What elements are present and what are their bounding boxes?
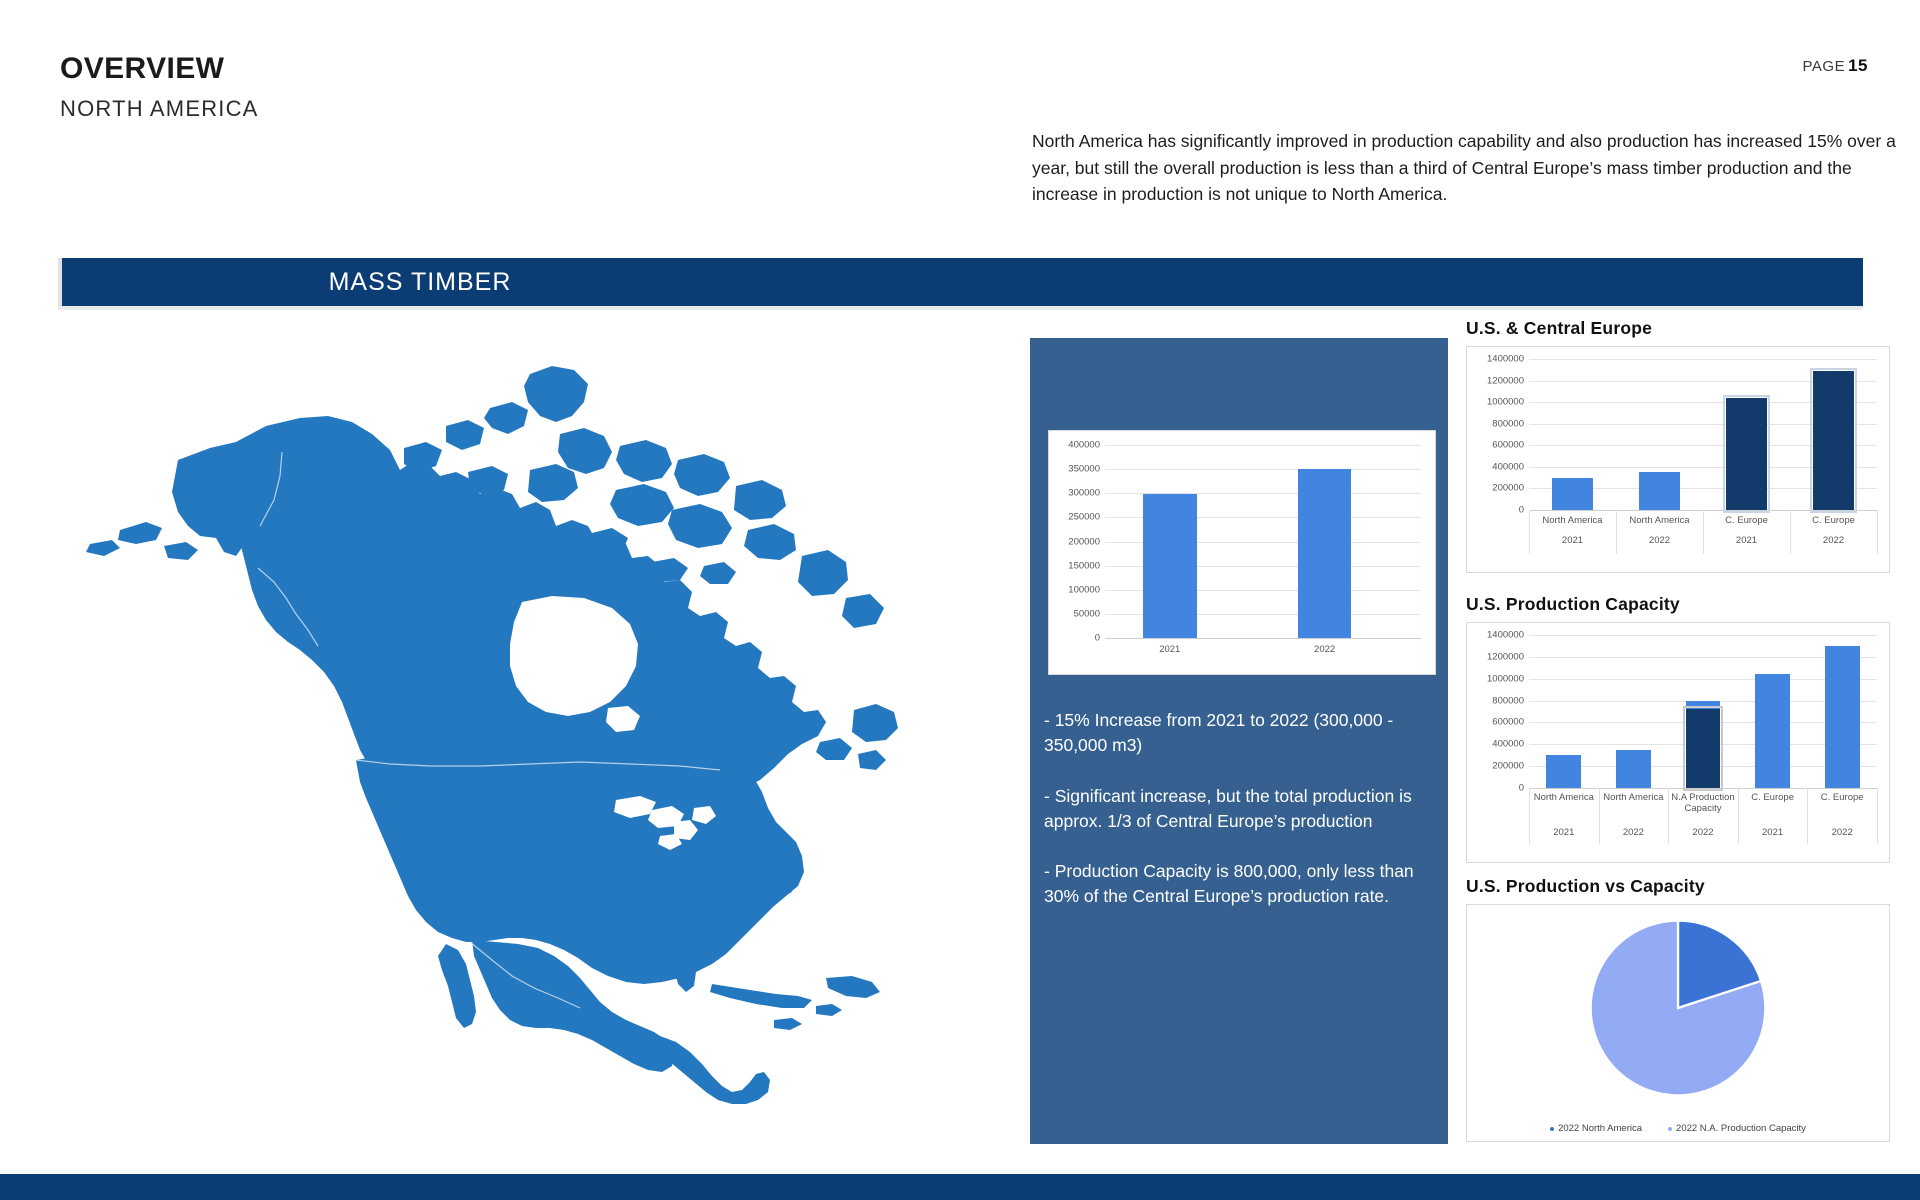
y-tick-label: 800000	[1492, 695, 1529, 706]
x-tick-sublabel: 2021	[1703, 536, 1790, 547]
panel-bullet-list: - 15% Increase from 2021 to 2022 (300,00…	[1044, 708, 1436, 935]
pie-chart-svg[interactable]	[1587, 917, 1769, 1099]
map-svg	[60, 330, 990, 1120]
x-tick-sublabel: 2022	[1790, 536, 1877, 547]
footer-bar	[0, 1174, 1920, 1200]
section-banner: MASS TIMBER	[58, 258, 1863, 310]
x-tick-sublabel: 2022	[1616, 536, 1703, 547]
x-tick-label: C. Europe	[1703, 516, 1790, 527]
y-tick-label: 50000	[1074, 608, 1105, 619]
y-tick-label: 300000	[1068, 488, 1105, 499]
x-tick-sublabel: 2022	[1668, 828, 1738, 839]
y-tick-label: 200000	[1068, 536, 1105, 547]
bar-c-europe-2021[interactable]	[1755, 674, 1790, 788]
bar-north-america-2021[interactable]	[1552, 478, 1594, 510]
x-tick-sublabel: 2022	[1599, 828, 1669, 839]
x-tick-label: 2022	[1298, 645, 1352, 656]
intro-paragraph: North America has significantly improved…	[1032, 128, 1898, 208]
x-tick-label: North America	[1529, 516, 1616, 527]
legend-label: 2022 N.A. Production Capacity	[1676, 1123, 1806, 1134]
y-tick-label: 100000	[1068, 584, 1105, 595]
chart-us-production-vs-capacity[interactable]: 2022 North America 2022 N.A. Production …	[1466, 904, 1890, 1142]
x-tick-label: C. Europe	[1807, 793, 1877, 804]
chart-plot-area: 1400000 1200000 1000000 800000 600000 40…	[1529, 359, 1877, 510]
y-tick-label: 350000	[1068, 464, 1105, 475]
bar-north-america-2022[interactable]	[1639, 472, 1681, 510]
y-tick-label: 200000	[1492, 483, 1529, 494]
bar-c-europe-2022[interactable]	[1825, 646, 1860, 788]
chart-us-production-capacity[interactable]: 1400000 1200000 1000000 800000 600000 40…	[1466, 622, 1890, 863]
chart-us-central-europe[interactable]: 1400000 1200000 1000000 800000 600000 40…	[1466, 346, 1890, 573]
gridline	[1529, 635, 1877, 636]
chart-na-production-plot: 400000 350000 300000 250000 200000 15000…	[1105, 445, 1421, 638]
x-tick-label: North America	[1616, 516, 1703, 527]
page-number: PAGE15	[1803, 56, 1869, 76]
x-tick-sublabel: 2021	[1529, 536, 1616, 547]
y-tick-label: 600000	[1492, 440, 1529, 451]
bar-c-europe-2022[interactable]	[1813, 371, 1855, 510]
chart-na-production[interactable]: 400000 350000 300000 250000 200000 15000…	[1048, 430, 1436, 675]
x-tick-label: North America	[1599, 793, 1669, 804]
y-tick-label: 1000000	[1487, 397, 1529, 408]
card-title: U.S. Production Capacity	[1466, 594, 1890, 615]
north-america-map	[60, 330, 990, 1120]
y-tick-label: 800000	[1492, 418, 1529, 429]
axis-line	[1529, 788, 1877, 789]
y-tick-label: 1200000	[1487, 651, 1529, 662]
y-tick-label: 1200000	[1487, 375, 1529, 386]
gridline	[1105, 469, 1421, 470]
legend-swatch-icon	[1668, 1127, 1672, 1131]
bar-north-america-2021[interactable]	[1546, 755, 1581, 788]
section-banner-label: MASS TIMBER	[62, 258, 1863, 306]
bar-c-europe-2021[interactable]	[1726, 398, 1768, 510]
y-tick-label: 1400000	[1487, 630, 1529, 641]
bar-2021[interactable]	[1143, 494, 1197, 638]
y-tick-label: 600000	[1492, 717, 1529, 728]
legend-item-north-america[interactable]: 2022 North America	[1550, 1123, 1642, 1134]
page-number-label: PAGE	[1803, 58, 1846, 75]
page-number-value: 15	[1848, 56, 1868, 75]
bar-na-production-capacity-overlay[interactable]	[1686, 709, 1721, 788]
panel-bullet-1: - 15% Increase from 2021 to 2022 (300,00…	[1044, 708, 1436, 758]
x-tick-label: North America	[1529, 793, 1599, 804]
slide-root: OVERVIEW NORTH AMERICA PAGE15 North Amer…	[0, 0, 1920, 1200]
card-us-central-europe: U.S. & Central Europe 1400000 1200000 10…	[1466, 318, 1890, 573]
bar-2022[interactable]	[1298, 469, 1352, 638]
x-tick-label: C. Europe	[1790, 516, 1877, 527]
legend-label: 2022 North America	[1558, 1123, 1642, 1134]
y-tick-label: 400000	[1492, 739, 1529, 750]
pie-legend: 2022 North America 2022 N.A. Production …	[1467, 1123, 1889, 1134]
section-banner-bar: MASS TIMBER	[58, 258, 1863, 306]
y-tick-label: 0	[1095, 633, 1105, 644]
x-tick-label: N.A Production Capacity	[1668, 793, 1738, 815]
page-subtitle: NORTH AMERICA	[60, 96, 259, 122]
x-tick-sublabel: 2022	[1807, 828, 1877, 839]
y-tick-label: 0	[1519, 783, 1529, 794]
map-landmass	[86, 366, 898, 1104]
y-tick-label: 1000000	[1487, 673, 1529, 684]
chart-plot-area: 1400000 1200000 1000000 800000 600000 40…	[1529, 635, 1877, 788]
y-tick-label: 250000	[1068, 512, 1105, 523]
legend-swatch-icon	[1550, 1127, 1554, 1131]
info-panel: 400000 350000 300000 250000 200000 15000…	[1030, 338, 1448, 1144]
x-tick-sublabel: 2021	[1529, 828, 1599, 839]
page-title: OVERVIEW	[60, 52, 224, 86]
x-tick-label: C. Europe	[1738, 793, 1808, 804]
legend-item-na-production-capacity[interactable]: 2022 N.A. Production Capacity	[1668, 1123, 1806, 1134]
x-separator	[1877, 788, 1878, 844]
panel-bullet-3: - Production Capacity is 800,000, only l…	[1044, 859, 1436, 909]
gridline	[1529, 359, 1877, 360]
card-title: U.S. & Central Europe	[1466, 318, 1890, 339]
y-tick-label: 200000	[1492, 761, 1529, 772]
y-tick-label: 1400000	[1487, 354, 1529, 365]
y-tick-label: 400000	[1492, 461, 1529, 472]
card-us-production-capacity: U.S. Production Capacity 1400000 1200000…	[1466, 594, 1890, 863]
x-tick-sublabel: 2021	[1738, 828, 1808, 839]
card-us-production-vs-capacity: U.S. Production vs Capacity 2022 North A…	[1466, 876, 1890, 1142]
gridline	[1105, 445, 1421, 446]
x-separator	[1877, 510, 1878, 554]
axis-line	[1105, 638, 1421, 639]
y-tick-label: 400000	[1068, 440, 1105, 451]
bar-north-america-2022[interactable]	[1616, 750, 1651, 788]
y-tick-label: 150000	[1068, 560, 1105, 571]
y-tick-label: 0	[1519, 505, 1529, 516]
card-title: U.S. Production vs Capacity	[1466, 876, 1890, 897]
x-tick-label: 2021	[1143, 645, 1197, 656]
panel-bullet-2: - Significant increase, but the total pr…	[1044, 784, 1436, 834]
